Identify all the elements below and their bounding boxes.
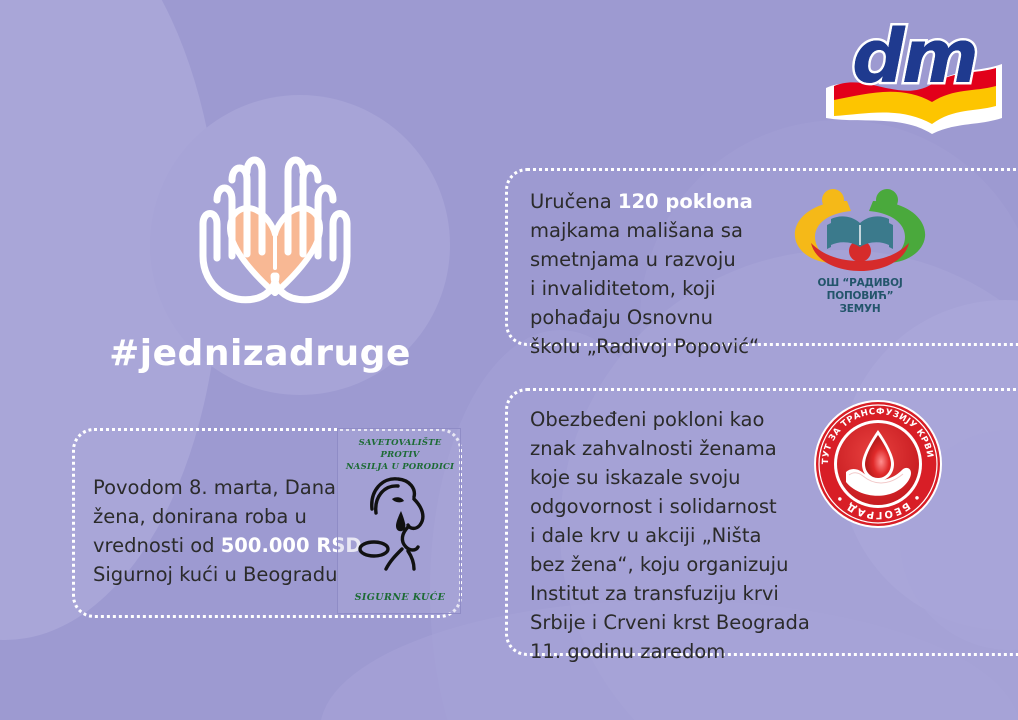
school-emblem-icon (785, 185, 935, 277)
school-logo-caption: ОШ “РАДИВОЈ ПОПОВИЋ” ЗЕМУН (785, 277, 935, 316)
card-school-text-before: Uručena (530, 190, 618, 213)
hands-heart-icon (170, 128, 380, 313)
abstract-woman-figure-icon (356, 469, 444, 579)
card-school-text-after: majkama mališana sa smetnjama u razvoju … (530, 219, 759, 358)
blood-institute-logo: ИНСТИТУТ ЗА ТРАНСФУЗИЈУ КРВИ СРБИЈЕ • БЕ… (812, 398, 944, 530)
school-logo: ОШ “РАДИВОЈ ПОПОВИЋ” ЗЕМУН (785, 185, 935, 310)
school-head-yellow (822, 189, 844, 211)
campaign-hashtag: #jednizadruge (0, 333, 520, 374)
school-head-green (876, 189, 898, 211)
card-shelter-text-after: Sigurnoj kući u Beogradu (93, 563, 337, 586)
card-blood-text: Obezbeđeni pokloni kao znak zahvalnosti … (530, 405, 840, 666)
card-school-highlight: 120 poklona (618, 190, 753, 213)
dm-wordmark: dm (820, 14, 1008, 100)
dm-logo: dm dm (820, 14, 1008, 136)
shelter-logo: SAVETOVALIŠTE PROTIV NASILJA U PORODICI (337, 428, 461, 614)
shelter-logo-bottom-text: SIGURNE KUĆE (342, 592, 458, 603)
shelter-logo-top-text: SAVETOVALIŠTE PROTIV NASILJA U PORODICI (342, 437, 458, 473)
card-school-donation: Uručena 120 poklona majkama mališana sa … (505, 168, 1018, 346)
poster-canvas: dm dm (0, 0, 1018, 720)
card-shelter-text: Povodom 8. marta, Dana žena, donirana ro… (93, 473, 363, 589)
